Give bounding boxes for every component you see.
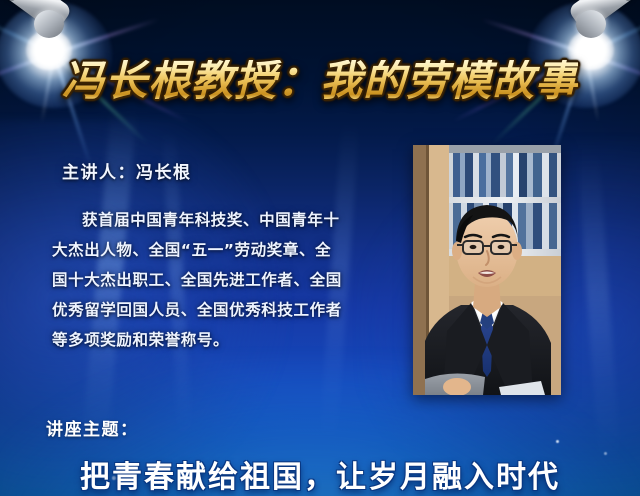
slogan-text: 把青春献给祖国，让岁月融入时代: [80, 452, 560, 496]
slogan-container: 把青春献给祖国，让岁月融入时代: [0, 452, 640, 496]
lecture-poster: 冯长根教授：我的劳模故事 主讲人：冯长根 获首届中国青年科技奖、中国青年十 大杰…: [0, 0, 640, 496]
bio-line: 等多项奖励和荣誉称号。: [52, 325, 400, 355]
speaker-portrait-image: [413, 145, 561, 395]
bio-line: 优秀留学回国人员、全国优秀科技工作者: [52, 295, 400, 325]
speaker-line: 主讲人：冯长根: [62, 158, 192, 183]
bio-line: 获首届中国青年科技奖、中国青年十: [52, 205, 400, 235]
spotlight-right: [458, 0, 640, 136]
speaker-bio: 获首届中国青年科技奖、中国青年十 大杰出人物、全国“五一”劳动奖章、全 国十大杰…: [52, 205, 400, 355]
bio-line: 国十大杰出职工、全国先进工作者、全国: [52, 265, 400, 295]
spotlight-left: [0, 0, 182, 136]
spotlight-rim: [34, 10, 64, 38]
light-speck: [556, 440, 559, 443]
bio-line: 大杰出人物、全国“五一”劳动奖章、全: [52, 235, 400, 265]
speaker-portrait: [413, 145, 561, 395]
spotlight-rim: [576, 10, 606, 38]
topic-label: 讲座主题：: [46, 415, 139, 440]
